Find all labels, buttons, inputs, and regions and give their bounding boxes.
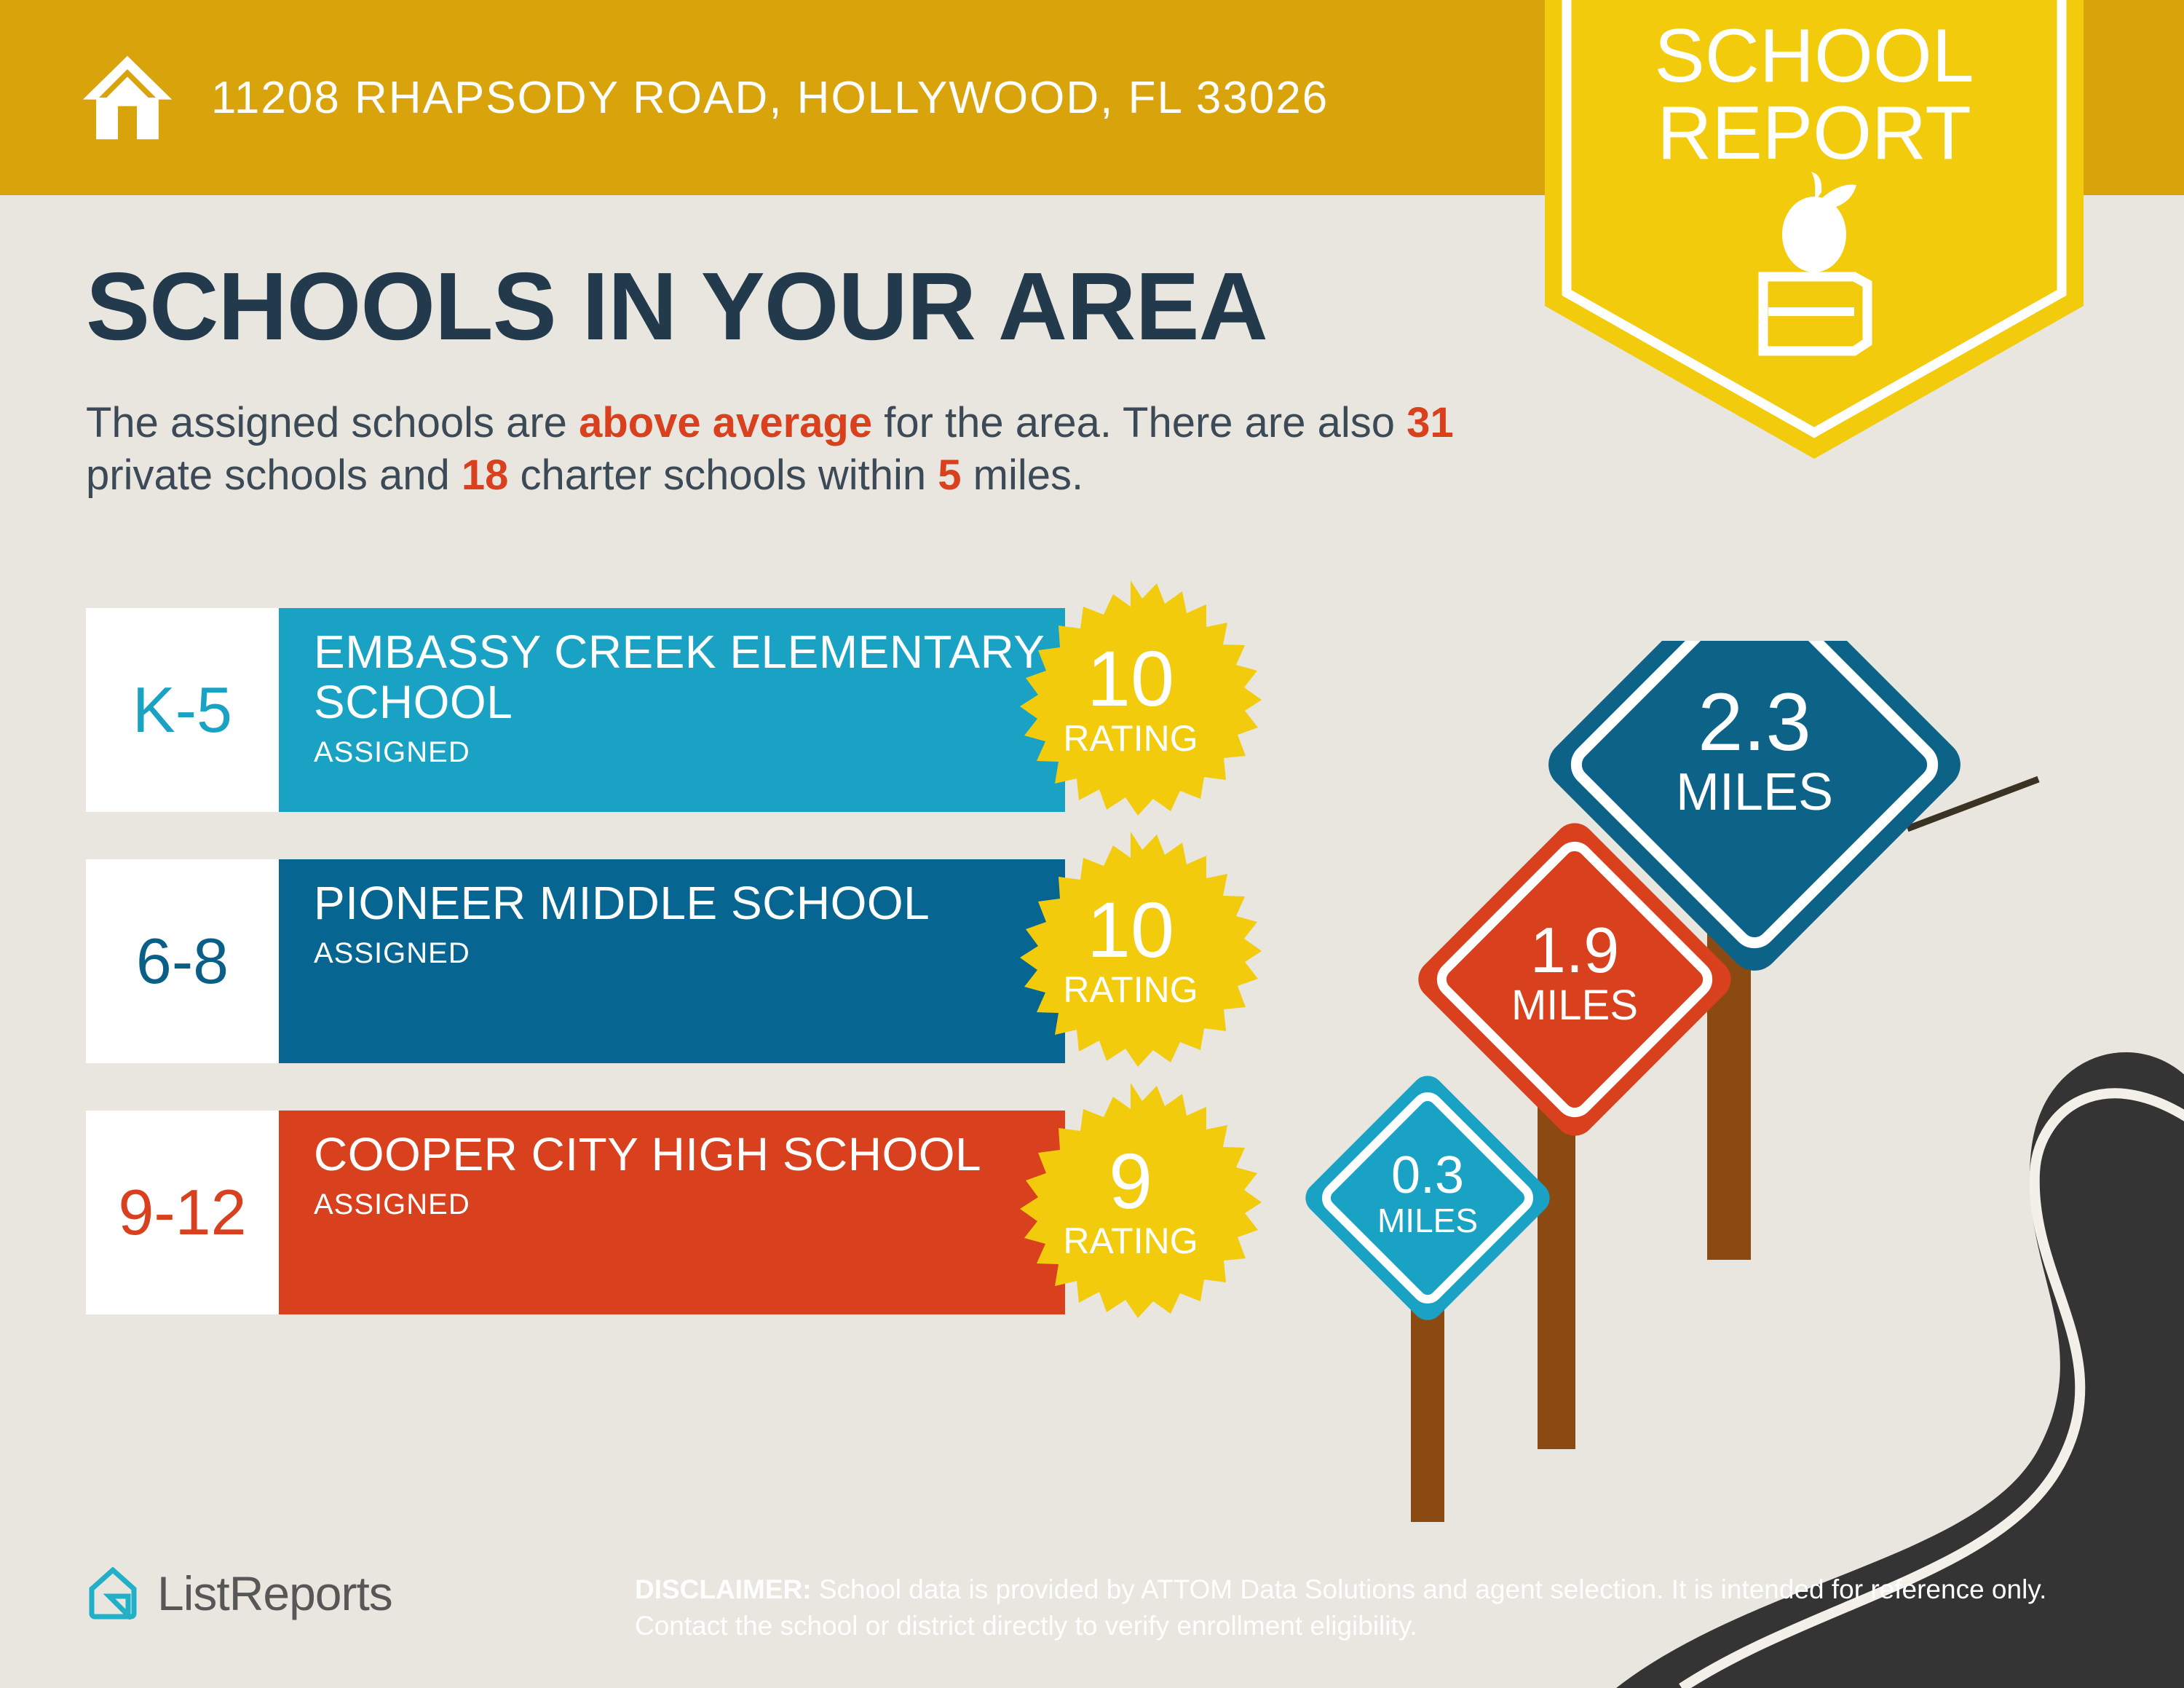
intro-part2: for the area. There are also bbox=[872, 399, 1406, 446]
school-name: PIONEER MIDDLE SCHOOL bbox=[314, 878, 1065, 928]
sign-unit: MILES bbox=[1676, 763, 1833, 821]
road-signs-illustration: 2.3 MILES 1.9 MILES 0.3 MILES bbox=[1303, 641, 2184, 1688]
intro-part3: private schools and bbox=[86, 451, 462, 499]
school-status: ASSIGNED bbox=[314, 1188, 1065, 1221]
intro-highlight-rating: above average bbox=[579, 399, 872, 446]
rating-badge: 10 RATING bbox=[1000, 577, 1262, 840]
sign-value: 0.3 bbox=[1391, 1146, 1464, 1204]
school-report-badge: SCHOOL REPORT bbox=[1545, 0, 2084, 459]
rating-value: 10 bbox=[1087, 886, 1174, 974]
sign-post bbox=[1538, 1096, 1575, 1449]
rating-label: RATING bbox=[1063, 969, 1198, 1010]
intro-part1: The assigned schools are bbox=[86, 399, 579, 446]
disclaimer-body: School data is provided by ATTOM Data So… bbox=[635, 1574, 2046, 1641]
intro-part4: charter schools within bbox=[508, 451, 938, 499]
school-bar: PIONEER MIDDLE SCHOOL ASSIGNED bbox=[279, 859, 1065, 1063]
school-status: ASSIGNED bbox=[314, 736, 1065, 769]
home-icon bbox=[80, 54, 175, 141]
school-row[interactable]: 9-12 COOPER CITY HIGH SCHOOL ASSIGNED 9 … bbox=[86, 1111, 1294, 1314]
rating-value: 9 bbox=[1109, 1137, 1152, 1225]
badge-line1: SCHOOL bbox=[1654, 14, 1974, 98]
school-bar: COOPER CITY HIGH SCHOOL ASSIGNED bbox=[279, 1111, 1065, 1314]
sign-unit: MILES bbox=[1377, 1202, 1478, 1239]
intro-private-count: 31 bbox=[1406, 399, 1454, 446]
rating-label: RATING bbox=[1063, 1220, 1198, 1261]
badge-line2: REPORT bbox=[1657, 91, 1971, 175]
disclaimer: DISCLAIMER: School data is provided by A… bbox=[635, 1571, 2091, 1644]
grade-range-box: K-5 bbox=[86, 608, 279, 812]
sign-0-3: 0.3 MILES bbox=[1303, 1069, 1556, 1327]
intro-charter-count: 18 bbox=[462, 451, 509, 499]
sign-value: 1.9 bbox=[1530, 914, 1619, 986]
school-row[interactable]: K-5 EMBASSY CREEK ELEMENTARY SCHOOL ASSI… bbox=[86, 608, 1294, 812]
property-address: 11208 RHAPSODY ROAD, HOLLYWOOD, FL 33026 bbox=[211, 72, 1329, 124]
intro-radius-miles: 5 bbox=[938, 451, 961, 499]
school-name: EMBASSY CREEK ELEMENTARY SCHOOL bbox=[314, 627, 1065, 727]
rating-label: RATING bbox=[1063, 718, 1198, 759]
school-row[interactable]: 6-8 PIONEER MIDDLE SCHOOL ASSIGNED 10 RA… bbox=[86, 859, 1294, 1063]
school-status: ASSIGNED bbox=[314, 937, 1065, 970]
school-name: COOPER CITY HIGH SCHOOL bbox=[314, 1129, 1065, 1180]
rating-badge: 10 RATING bbox=[1000, 829, 1262, 1091]
rating-badge: 9 RATING bbox=[1000, 1080, 1262, 1342]
school-bar: EMBASSY CREEK ELEMENTARY SCHOOL ASSIGNED bbox=[279, 608, 1065, 812]
logo-text: ListReports bbox=[157, 1566, 392, 1621]
page-title: SCHOOLS IN YOUR AREA bbox=[86, 259, 1267, 355]
intro-part5: miles. bbox=[962, 451, 1084, 499]
grade-range-box: 9-12 bbox=[86, 1111, 279, 1314]
school-list: K-5 EMBASSY CREEK ELEMENTARY SCHOOL ASSI… bbox=[86, 608, 1294, 1362]
sign-unit: MILES bbox=[1511, 982, 1638, 1029]
grade-range-box: 6-8 bbox=[86, 859, 279, 1063]
intro-paragraph: The assigned schools are above average f… bbox=[86, 397, 1542, 502]
house-tag-icon bbox=[87, 1567, 138, 1620]
disclaimer-label: DISCLAIMER: bbox=[635, 1574, 812, 1604]
rating-value: 10 bbox=[1087, 634, 1174, 722]
listreports-logo[interactable]: ListReports bbox=[87, 1566, 392, 1621]
infographic-page: 11208 RHAPSODY ROAD, HOLLYWOOD, FL 33026… bbox=[0, 0, 2184, 1688]
sign-value: 2.3 bbox=[1698, 677, 1811, 768]
